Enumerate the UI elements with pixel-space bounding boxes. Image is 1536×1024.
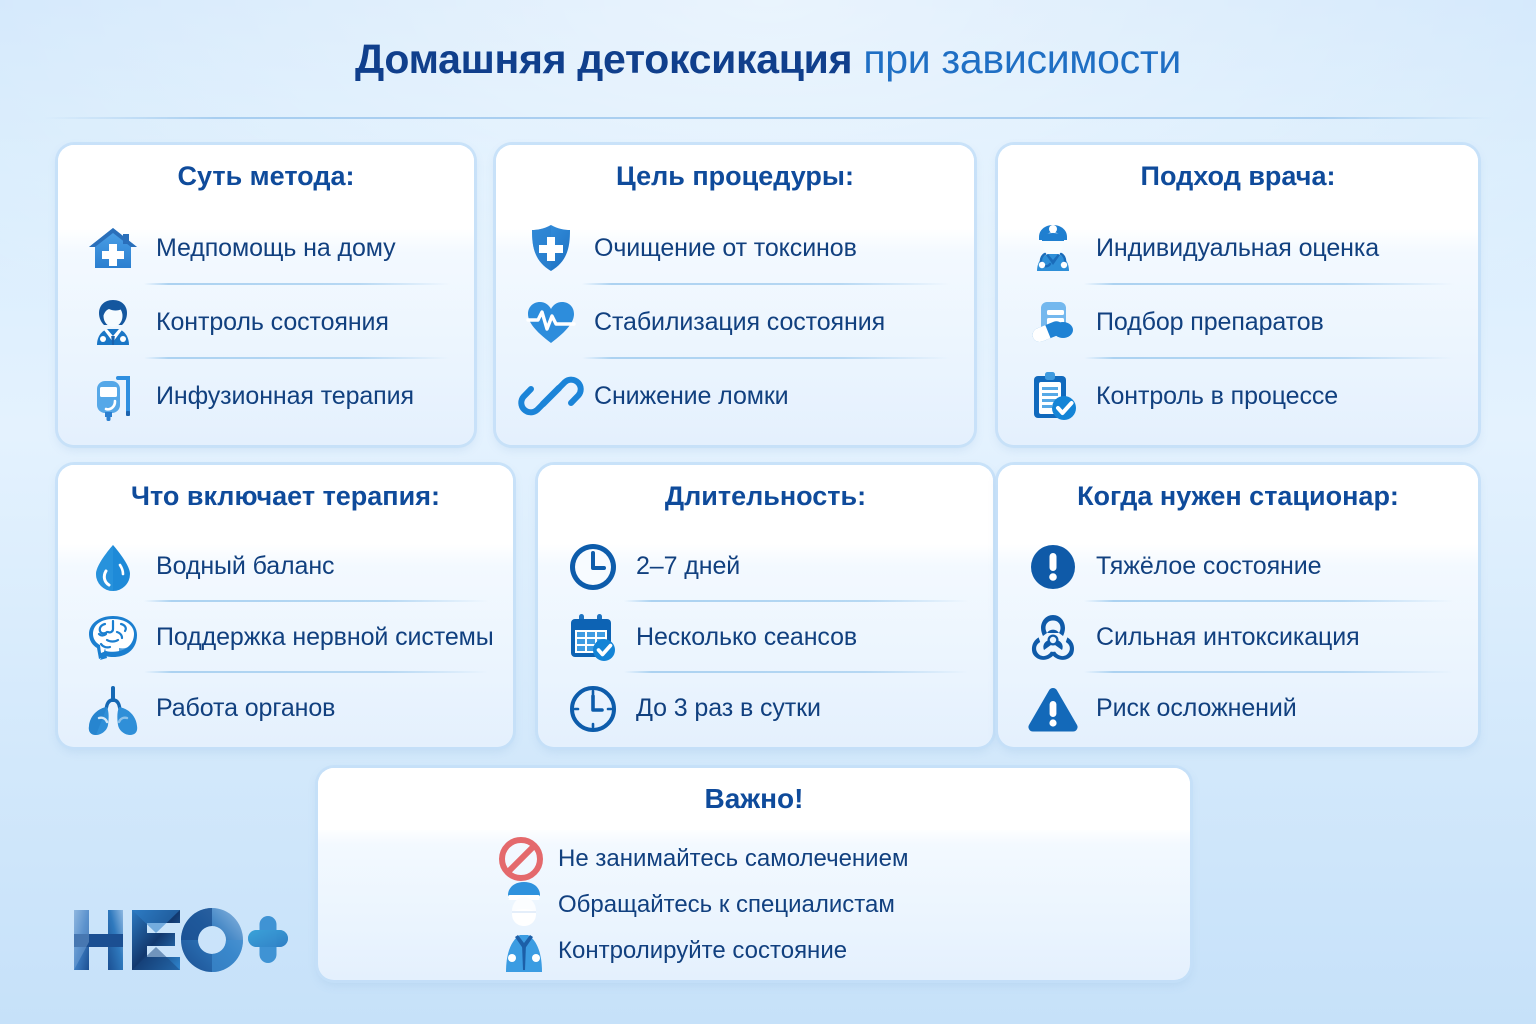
list-item-label: До 3 раз в сутки bbox=[636, 694, 821, 723]
card-header: Важно! bbox=[318, 768, 1190, 830]
home-medical-icon bbox=[82, 217, 144, 279]
list-item-label: Обращайтесь к специалистам bbox=[558, 891, 895, 919]
list-item-label: Сильная интоксикация bbox=[1096, 623, 1360, 652]
card-title: Длительность: bbox=[665, 481, 866, 512]
clock-outline-icon bbox=[562, 678, 624, 740]
card-body: Водный баланс bbox=[58, 527, 513, 744]
list-item-label: Индивидуальная оценка bbox=[1096, 234, 1379, 263]
list-item-label: Работа органов bbox=[156, 694, 335, 723]
list-item[interactable]: Обращайтесь к специалистам bbox=[318, 882, 1190, 928]
pills-icon bbox=[1022, 291, 1084, 353]
card-chto-vklyuchaet-terapiya: Что включает терапия: Водный баланс bbox=[58, 465, 513, 747]
card-sut-metoda: Суть метода: Медпомощь на дому bbox=[58, 145, 474, 445]
list-item[interactable]: Индивидуальная оценка bbox=[998, 211, 1478, 285]
title-divider bbox=[42, 117, 1494, 119]
card-dlitelnost: Длительность: 2–7 дней bbox=[538, 465, 993, 747]
infographic-page: Домашняя детоксикация при зависимости Су… bbox=[0, 0, 1536, 1024]
list-item-label: Поддержка нервной системы bbox=[156, 623, 494, 652]
clock-filled-icon bbox=[562, 536, 624, 598]
card-vazhno: Важно! bbox=[318, 768, 1190, 980]
list-item[interactable]: Медпомощь на дому bbox=[58, 211, 474, 285]
card-body: Тяжёлое состояние bbox=[998, 527, 1478, 744]
calendar-check-icon bbox=[562, 607, 624, 669]
card-header: Цель процедуры: bbox=[496, 145, 974, 207]
list-item-label: 2–7 дней bbox=[636, 552, 740, 581]
shield-cross-icon bbox=[520, 217, 582, 279]
card-title: Когда нужен стационар: bbox=[1077, 481, 1399, 512]
card-podhod-vracha: Подход врача: bbox=[998, 145, 1478, 445]
list-item-label: Снижение ломки bbox=[594, 382, 789, 411]
list-item[interactable]: Поддержка нервной системы bbox=[58, 602, 513, 673]
card-body: 2–7 дней bbox=[538, 527, 993, 744]
list-item-label: Несколько сеансов bbox=[636, 623, 857, 652]
card-tsel-protsedury: Цель процедуры: Очищение от токсинов bbox=[496, 145, 974, 445]
list-item[interactable]: 2–7 дней bbox=[538, 531, 993, 602]
card-kogda-nuzhen-statsionar: Когда нужен стационар: Тяжёлое состояние bbox=[998, 465, 1478, 747]
list-item-label: Риск осложнений bbox=[1096, 694, 1297, 723]
clipboard-check-icon bbox=[1022, 365, 1084, 427]
list-item[interactable]: Очищение от токсинов bbox=[496, 211, 974, 285]
card-body: Не занимайтесь самолечением Обращайтесь … bbox=[318, 830, 1190, 980]
list-item[interactable]: Снижение ломки bbox=[496, 359, 974, 433]
list-item[interactable]: Инфузионная терапия bbox=[58, 359, 474, 433]
lungs-icon bbox=[82, 678, 144, 740]
card-title: Что включает терапия: bbox=[131, 481, 440, 512]
list-item[interactable]: Сильная интоксикация bbox=[998, 602, 1478, 673]
list-item[interactable]: Контролируйте состояние bbox=[318, 928, 1190, 974]
brain-icon bbox=[82, 607, 144, 669]
list-item-label: Контроль в процессе bbox=[1096, 382, 1338, 411]
list-item-label: Тяжёлое состояние bbox=[1096, 552, 1321, 581]
card-title: Подход врача: bbox=[1141, 161, 1336, 192]
heart-pulse-icon bbox=[520, 291, 582, 353]
list-item[interactable]: Подбор препаратов bbox=[998, 285, 1478, 359]
list-item[interactable]: До 3 раз в сутки bbox=[538, 673, 993, 744]
list-item-label: Контролируйте состояние bbox=[558, 937, 847, 965]
list-item-label: Водный баланс bbox=[156, 552, 334, 581]
card-header: Когда нужен стационар: bbox=[998, 465, 1478, 527]
card-header: Длительность: bbox=[538, 465, 993, 527]
list-item-label: Контроль состояния bbox=[156, 308, 389, 337]
page-title-strong: Домашняя детоксикация bbox=[355, 36, 852, 82]
iv-drip-icon bbox=[82, 365, 144, 427]
exclamation-circle-icon bbox=[1022, 536, 1084, 598]
list-item-label: Инфузионная терапия bbox=[156, 382, 414, 411]
doctor-masked-icon bbox=[500, 878, 548, 974]
card-header: Подход врача: bbox=[998, 145, 1478, 207]
list-item-label: Не занимайтесь самолечением bbox=[558, 845, 908, 873]
list-item[interactable]: Водный баланс bbox=[58, 531, 513, 602]
list-item-label: Стабилизация состояния bbox=[594, 308, 885, 337]
logo-neo-plus bbox=[72, 902, 288, 978]
card-body: Очищение от токсинов Стабилизация состоя… bbox=[496, 207, 974, 433]
list-item[interactable]: Работа органов bbox=[58, 673, 513, 744]
list-item[interactable]: Несколько сеансов bbox=[538, 602, 993, 673]
page-title-light: при зависимости bbox=[863, 36, 1181, 82]
card-title: Важно! bbox=[705, 783, 804, 815]
list-item[interactable]: Контроль состояния bbox=[58, 285, 474, 359]
warning-triangle-icon bbox=[1022, 678, 1084, 740]
page-title: Домашняя детоксикация при зависимости bbox=[0, 36, 1536, 83]
prohibition-icon bbox=[498, 836, 544, 882]
doctor-person-icon bbox=[82, 291, 144, 353]
card-header: Суть метода: bbox=[58, 145, 474, 207]
card-header: Что включает терапия: bbox=[58, 465, 513, 527]
list-item-label: Медпомощь на дому bbox=[156, 234, 396, 263]
list-item[interactable]: Контроль в процессе bbox=[998, 359, 1478, 433]
list-item-label: Очищение от токсинов bbox=[594, 234, 857, 263]
list-item[interactable]: Стабилизация состояния bbox=[496, 285, 974, 359]
card-body: Индивидуальная оценка bbox=[998, 207, 1478, 433]
list-item[interactable]: Риск осложнений bbox=[998, 673, 1478, 744]
chain-link-icon bbox=[520, 365, 582, 427]
doctor-stethoscope-icon bbox=[1022, 217, 1084, 279]
card-title: Суть метода: bbox=[178, 161, 355, 192]
list-item-label: Подбор препаратов bbox=[1096, 308, 1324, 337]
card-title: Цель процедуры: bbox=[616, 161, 854, 192]
list-item[interactable]: Тяжёлое состояние bbox=[998, 531, 1478, 602]
biohazard-icon bbox=[1022, 607, 1084, 669]
list-item[interactable]: Не занимайтесь самолечением bbox=[318, 836, 1190, 882]
card-body: Медпомощь на дому Контро bbox=[58, 207, 474, 433]
water-drop-icon bbox=[82, 536, 144, 598]
